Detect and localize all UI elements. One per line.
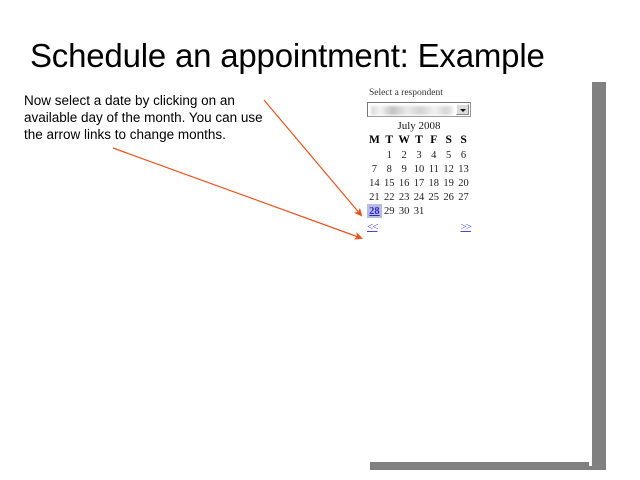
chevron-down-icon[interactable]: [456, 104, 469, 115]
selected-day-28[interactable]: 28: [367, 204, 382, 218]
next-month-link[interactable]: >>: [461, 221, 471, 233]
respondent-select[interactable]: [367, 102, 471, 117]
previous-month-link[interactable]: <<: [367, 221, 377, 233]
calendar-week-row: 123456: [367, 148, 471, 162]
calendar-day: 31: [412, 204, 427, 218]
weekday-header: T: [412, 134, 427, 148]
slide-canvas: Schedule an appointment: Example Now sel…: [0, 0, 640, 480]
calendar-day: 11: [426, 162, 441, 176]
calendar-day-empty: [456, 204, 471, 218]
calendar-day: 17: [412, 176, 427, 190]
calendar-week-row: 78910111213: [367, 162, 471, 176]
calendar-day-empty: [441, 204, 456, 218]
calendar-day: 15: [382, 176, 397, 190]
calendar-day: 19: [441, 176, 456, 190]
calendar-day-empty: [367, 148, 382, 162]
calendar-day: 4: [426, 148, 441, 162]
calendar-weeks: 1234567891011121314151617181920212223242…: [367, 148, 471, 218]
calendar-day: 25: [426, 190, 441, 204]
calendar-day: 9: [397, 162, 412, 176]
slide-edge-bottom: [368, 459, 592, 462]
calendar-day: 3: [412, 148, 427, 162]
calendar-day: 2: [397, 148, 412, 162]
weekday-header: S: [441, 134, 456, 148]
calendar-day: 5: [441, 148, 456, 162]
calendar-day: 23: [397, 190, 412, 204]
calendar-nav: << >>: [367, 221, 471, 233]
weekday-header: S: [456, 134, 471, 148]
calendar-month-title: July 2008: [367, 120, 477, 132]
respondent-selected-value: [371, 106, 453, 115]
arrow-to-prev-month-link: [113, 148, 361, 238]
weekday-header: F: [426, 134, 441, 148]
slide-shadow-right: [592, 82, 606, 470]
calendar-day: 13: [456, 162, 471, 176]
respondent-label: Select a respondent: [369, 88, 477, 98]
calendar-day: 16: [397, 176, 412, 190]
calendar-day: 7: [367, 162, 382, 176]
slide-shadow-bottom: [370, 462, 606, 470]
calendar-day-empty: [426, 204, 441, 218]
calendar-day: 14: [367, 176, 382, 190]
weekday-header: T: [382, 134, 397, 148]
calendar-day: 10: [412, 162, 427, 176]
calendar-day: 8: [382, 162, 397, 176]
calendar-widget: Select a respondent July 2008 M T W T F …: [367, 88, 477, 233]
calendar-day: 26: [441, 190, 456, 204]
calendar-day: 1: [382, 148, 397, 162]
calendar-day: 21: [367, 190, 382, 204]
calendar-day: 24: [412, 190, 427, 204]
calendar-day: 29: [382, 204, 397, 218]
calendar-grid: M T W T F S S 12345678910111213141516171…: [367, 134, 471, 218]
calendar-week-row: 21222324252627: [367, 190, 471, 204]
calendar-week-row: 28293031: [367, 204, 471, 218]
weekday-header: W: [397, 134, 412, 148]
instruction-text: Now select a date by clicking on an avai…: [24, 92, 272, 143]
page-title: Schedule an appointment: Example: [30, 36, 610, 76]
calendar-week-row: 14151617181920: [367, 176, 471, 190]
calendar-day: 20: [456, 176, 471, 190]
calendar-day: 22: [382, 190, 397, 204]
calendar-day-link[interactable]: 28: [369, 206, 380, 217]
weekday-header: M: [367, 134, 382, 148]
slide-edge-right: [589, 78, 592, 466]
calendar-weekday-row: M T W T F S S: [367, 134, 471, 148]
calendar-day: 18: [426, 176, 441, 190]
calendar-day: 12: [441, 162, 456, 176]
calendar-day: 6: [456, 148, 471, 162]
calendar-day: 30: [397, 204, 412, 218]
arrow-to-selected-day: [264, 100, 361, 215]
calendar-day: 27: [456, 190, 471, 204]
